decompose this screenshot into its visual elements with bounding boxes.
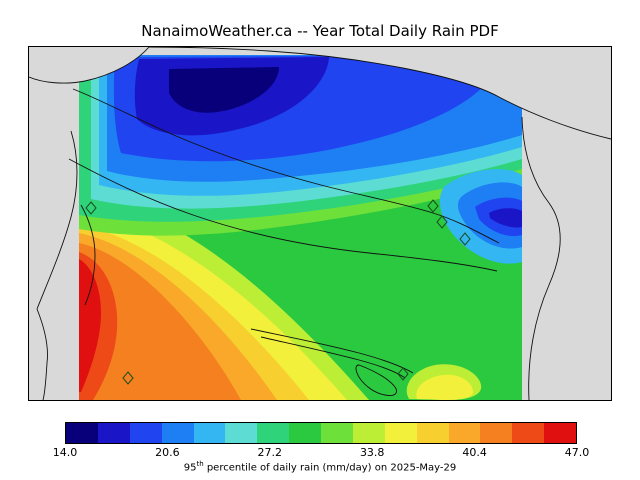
- colorbar-segment-5: [225, 423, 257, 443]
- map-plot-area: [28, 46, 612, 401]
- colorbar-segment-7: [289, 423, 321, 443]
- map-contour-svg: [29, 47, 611, 400]
- caption-post: percentile of daily rain (mm/day) on 202…: [204, 462, 457, 473]
- colorbar-segment-6: [257, 423, 289, 443]
- colorbar-tick-labels: 14.020.627.233.840.447.0: [0, 446, 640, 460]
- rain-percentile-chart: NanaimoWeather.ca -- Year Total Daily Ra…: [0, 0, 640, 480]
- colorbar-segment-4: [194, 423, 226, 443]
- contour-field: [79, 55, 522, 400]
- colorbar-tick-1: 20.6: [147, 446, 187, 459]
- colorbar-caption: 95th percentile of daily rain (mm/day) o…: [0, 460, 640, 473]
- colorbar-tick-5: 47.0: [557, 446, 597, 459]
- colorbar-tick-3: 33.8: [352, 446, 392, 459]
- colorbar-segment-12: [449, 423, 481, 443]
- caption-superscript: th: [196, 460, 203, 468]
- colorbar-segment-14: [512, 423, 544, 443]
- colorbar-segment-13: [480, 423, 512, 443]
- colorbar-tick-0: 14.0: [45, 446, 85, 459]
- colorbar-tick-4: 40.4: [455, 446, 495, 459]
- colorbar-segment-0: [66, 423, 98, 443]
- colorbar-segment-9: [353, 423, 385, 443]
- colorbar-segment-11: [417, 423, 449, 443]
- colorbar-segment-2: [130, 423, 162, 443]
- caption-pre: 95: [184, 462, 197, 473]
- colorbar-tick-2: 27.2: [250, 446, 290, 459]
- colorbar-segment-15: [544, 423, 576, 443]
- colorbar-segment-10: [385, 423, 417, 443]
- colorbar-segment-1: [98, 423, 130, 443]
- colorbar-segment-3: [162, 423, 194, 443]
- colorbar: [65, 422, 577, 444]
- chart-title: NanaimoWeather.ca -- Year Total Daily Ra…: [0, 22, 640, 40]
- colorbar-segment-8: [321, 423, 353, 443]
